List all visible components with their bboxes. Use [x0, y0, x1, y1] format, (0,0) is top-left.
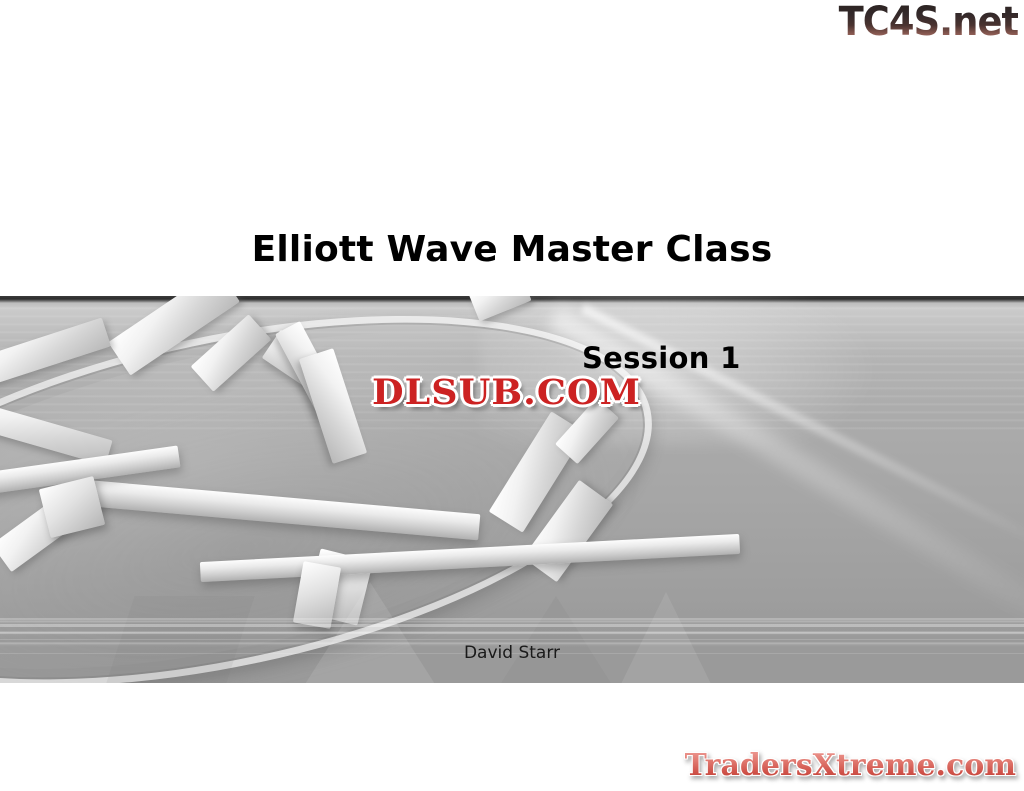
- tradersxtreme-watermark: TradersXtreme.com: [685, 748, 1016, 783]
- slide-title: Elliott Wave Master Class: [0, 229, 1024, 270]
- dlsub-watermark: DLSUB.COM: [372, 372, 641, 413]
- clock-gear-3d-graphic: [0, 296, 1024, 683]
- session-subtitle: Session 1: [582, 341, 741, 375]
- presentation-slide: TC4S.net Elliott Wave Master Class: [0, 0, 1024, 791]
- tc4s-site-logo: TC4S.net: [838, 2, 1018, 42]
- author-name: David Starr: [0, 643, 1024, 663]
